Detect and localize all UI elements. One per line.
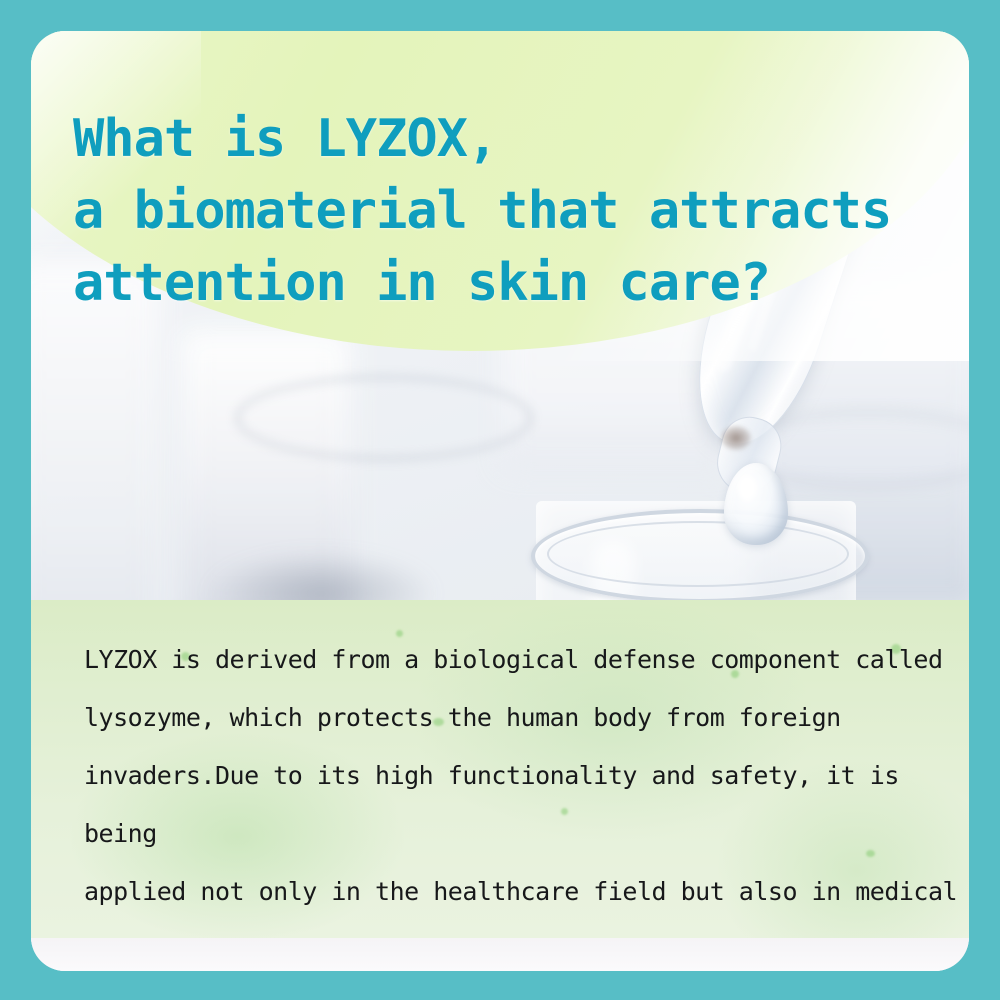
body-paragraph: LYZOX is derived from a biological defen… <box>84 631 969 971</box>
pipette-tip-shadow <box>721 426 751 450</box>
bottom-white-strip <box>31 938 969 971</box>
content-card: What is LYZOX, a biomaterial that attrac… <box>31 31 969 971</box>
page-title: What is LYZOX, a biomaterial that attrac… <box>73 103 953 319</box>
outer-frame: What is LYZOX, a biomaterial that attrac… <box>0 0 1000 1000</box>
background-beaker-rim-left <box>236 376 532 460</box>
droplet-highlight <box>738 475 756 501</box>
beaker-rim-inner <box>547 521 849 587</box>
